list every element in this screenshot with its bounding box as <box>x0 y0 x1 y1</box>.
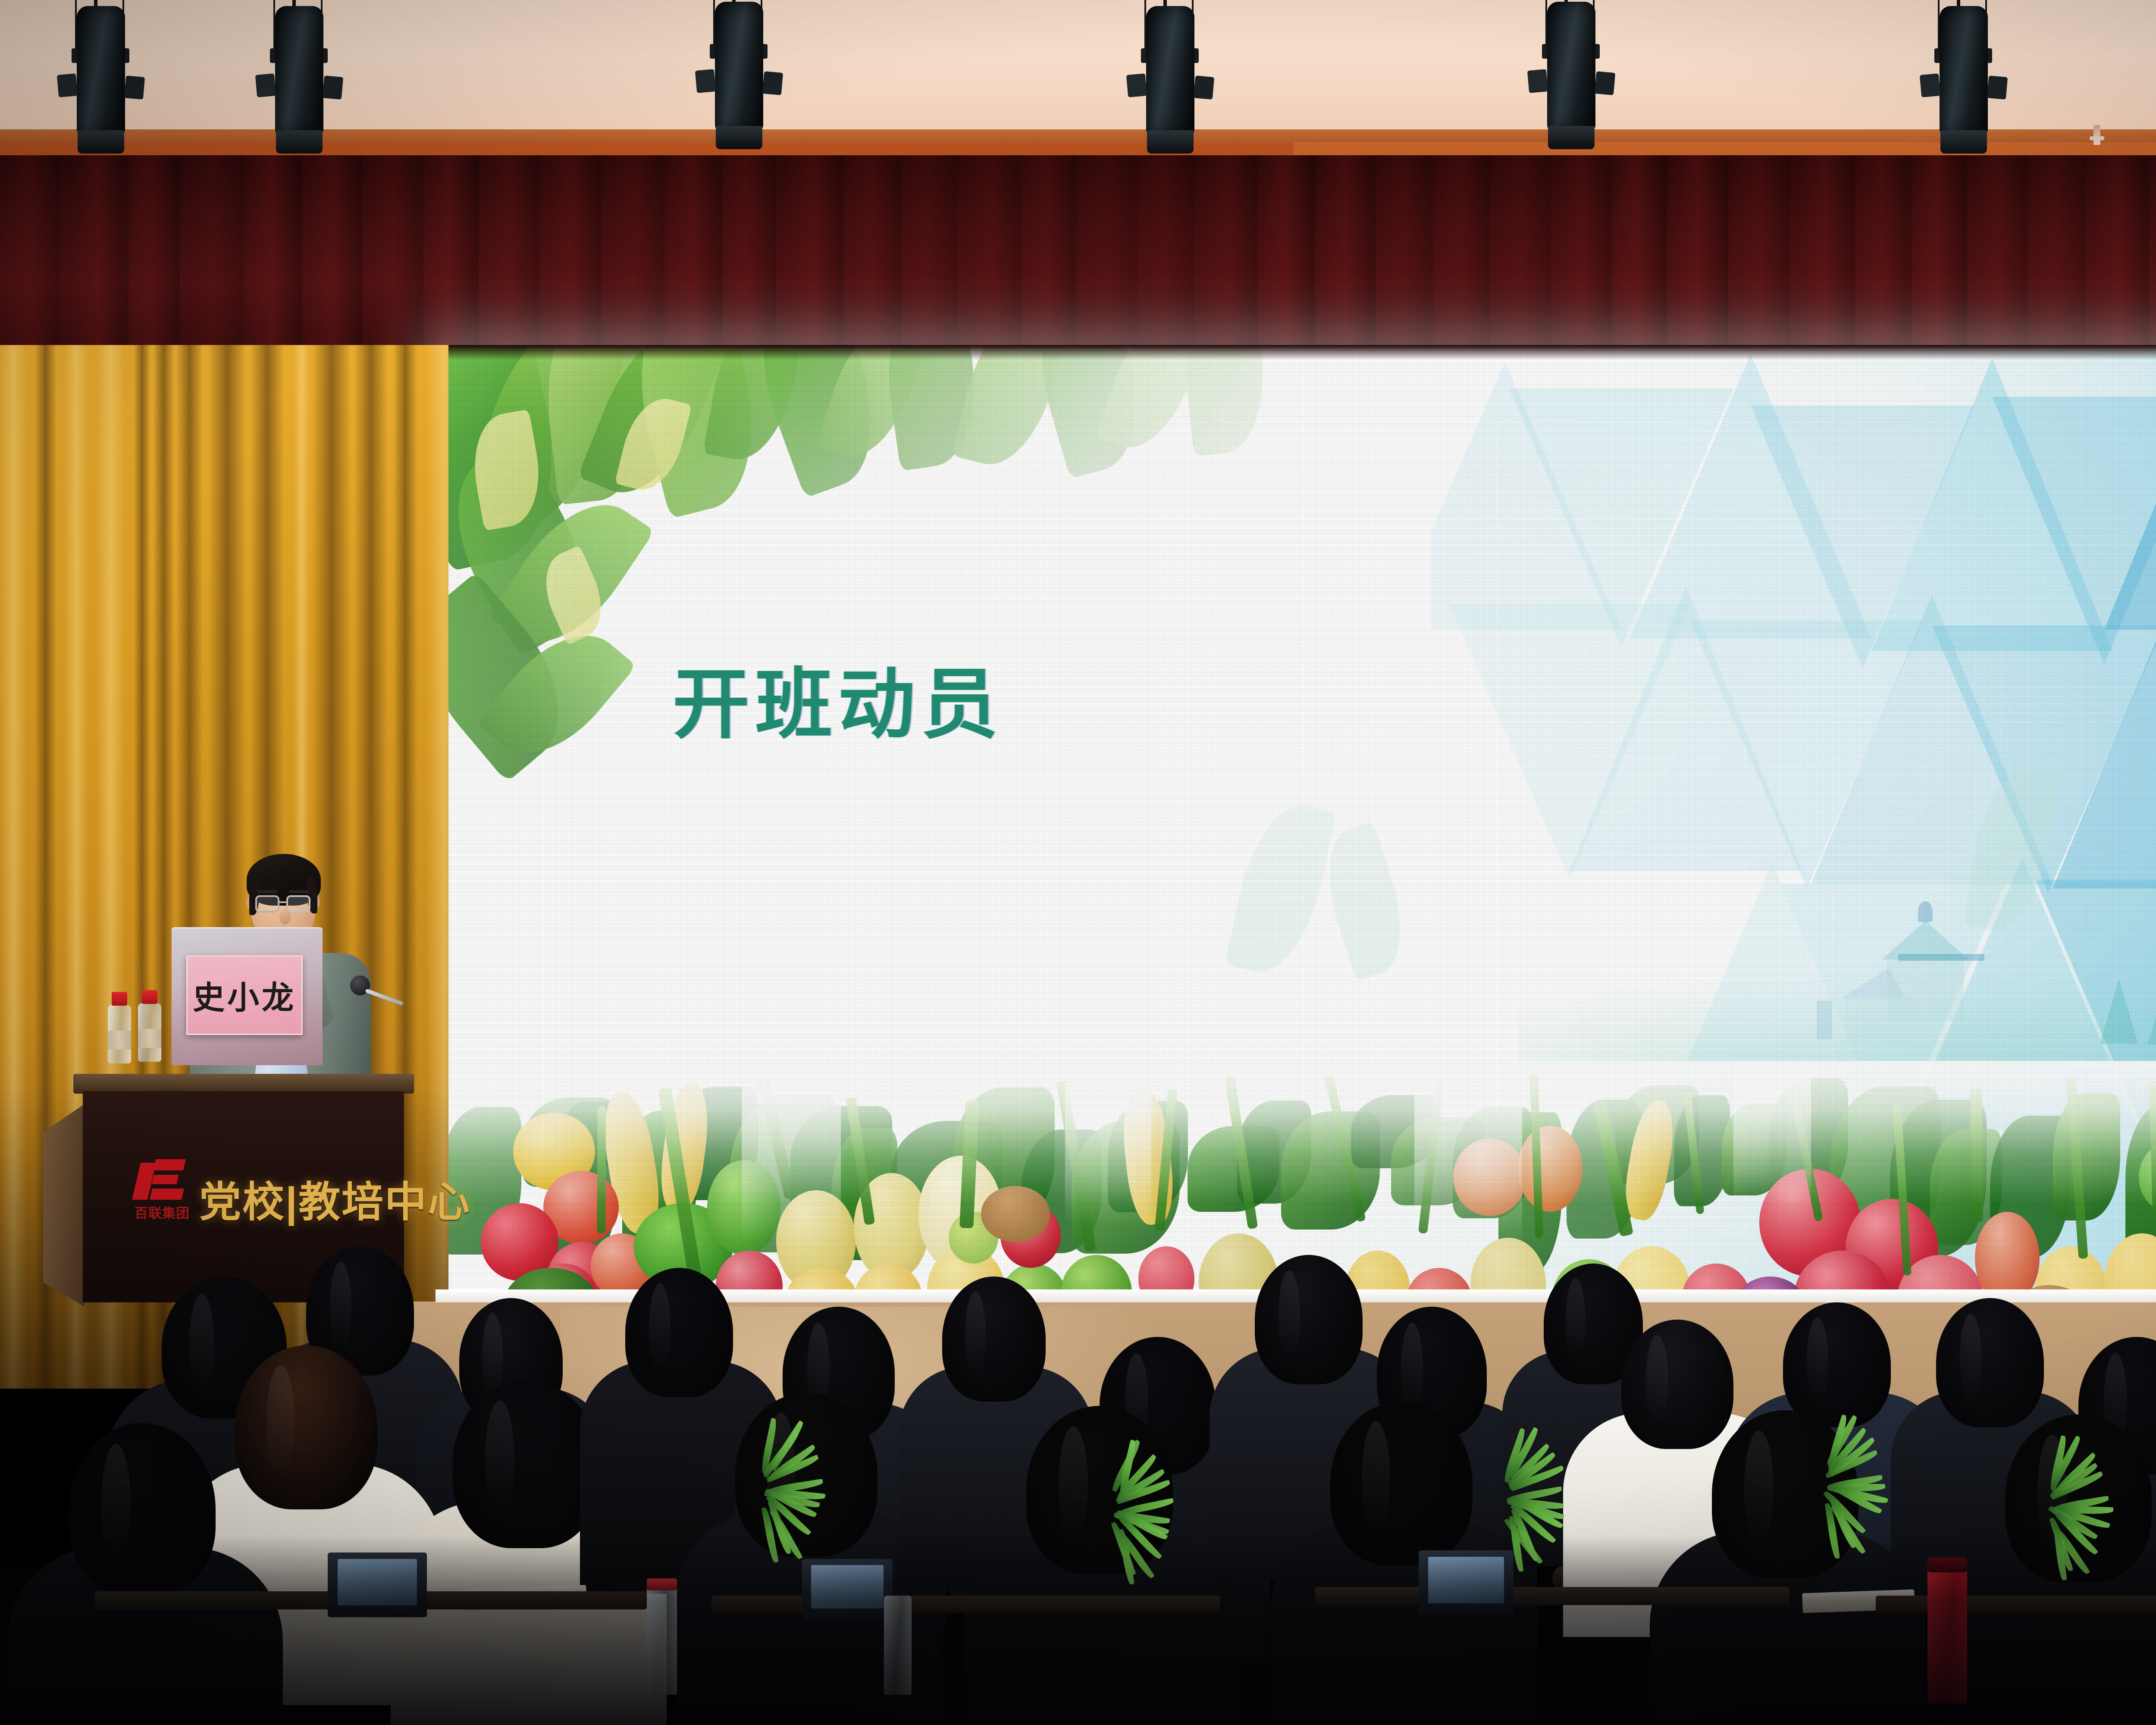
le-monogram-icon <box>135 1156 188 1203</box>
spotlight-lens <box>716 126 762 149</box>
screen-top-shadow <box>440 345 2156 360</box>
valance-fold <box>1316 155 1376 362</box>
speaker-eyebrow-right <box>289 890 309 893</box>
valance-fold <box>241 155 302 362</box>
farmhouse2-body <box>1845 996 1914 1043</box>
name-placard: 史小龙 <box>186 955 303 1035</box>
spotlight-barndoor-right <box>1595 71 1615 95</box>
bottle-label <box>108 1031 131 1050</box>
attendee-hair-sheen <box>1807 1317 1828 1405</box>
attendee-head <box>942 1276 1046 1402</box>
spotlight-barndoor-right <box>762 71 783 95</box>
spotlight-housing <box>1547 2 1595 131</box>
speaker-eyebrow-left <box>257 890 278 893</box>
bottle-cap <box>112 992 127 1006</box>
valance-fold <box>1429 155 1490 362</box>
name-placard-text: 史小龙 <box>193 972 296 1018</box>
valance-fold <box>418 155 479 362</box>
valance-fold <box>184 155 244 362</box>
produce-blowout <box>1733 1061 1811 1207</box>
valance-fold <box>1730 155 1790 362</box>
valance-fold <box>1077 155 1138 362</box>
valance-fold <box>1968 155 2028 362</box>
spotlight-barndoor-left <box>1126 73 1147 97</box>
valance-fold <box>479 155 539 362</box>
valance-fold <box>302 155 362 362</box>
logo-subtext: 百联集团 <box>135 1202 188 1222</box>
attendee-hair-sheen <box>1401 1323 1423 1415</box>
produce-blowout <box>1065 1061 1151 1225</box>
podium-sign-text: 党校|教培中心 <box>199 1168 471 1229</box>
company-logo: 百联集团 <box>135 1156 188 1220</box>
valance-fold <box>1795 155 1855 362</box>
produce-top-fade <box>440 1061 2156 1203</box>
slide-triangle <box>2104 345 2156 630</box>
slide-tree <box>2147 992 2156 1044</box>
spotlight-housing <box>715 2 763 131</box>
spotlight-barndoor-right <box>1987 75 2008 100</box>
attendee-hair-sheen <box>649 1283 671 1374</box>
produce-blowout <box>1414 1061 1522 1246</box>
sprinkler-head <box>2093 125 2100 145</box>
potted-palm <box>1440 1410 1595 1557</box>
spotlight-barndoor-right <box>124 75 145 100</box>
foreground-shadow <box>0 1535 2156 1725</box>
spotlight-barndoor-left <box>1527 69 1548 93</box>
potted-palm <box>699 1402 854 1548</box>
valance-fold <box>0 155 60 362</box>
farmhouse2-wing <box>1817 1000 1832 1039</box>
valance-fold <box>662 155 723 362</box>
valance-fold <box>2088 155 2149 362</box>
valance-fold <box>1907 155 1967 362</box>
attendee-hair-sheen <box>485 1400 514 1518</box>
spotlight-lens <box>1940 130 1987 154</box>
spotlight-lens <box>1147 130 1194 154</box>
attendee-hair-sheen <box>330 1262 351 1352</box>
attendee-hair-sheen <box>1362 1421 1390 1536</box>
spotlight-barndoor-left <box>1920 73 1940 97</box>
podium-side-panel <box>43 1104 85 1307</box>
slide-hills <box>1518 940 2156 1069</box>
spotlight-barndoor-left <box>255 73 276 97</box>
valance-fold <box>1852 155 1912 362</box>
ceiling <box>0 0 2156 142</box>
spotlight-barndoor-left <box>695 69 716 93</box>
spotlight-barndoor-right <box>1194 75 1214 100</box>
conference-hall-scene: 开班动员 史小龙 <box>0 0 2156 1725</box>
eyeglasses-lens-left <box>255 895 279 913</box>
valance-fold <box>1373 155 1433 362</box>
farmhouse2-roof <box>1841 968 1906 998</box>
valance-fold <box>1552 155 1612 362</box>
valance-fold <box>716 155 776 362</box>
valance-fold <box>119 155 180 362</box>
valance-fold <box>2152 155 2156 362</box>
spotlight-barndoor-right <box>323 75 343 100</box>
spotlight-housing <box>1940 6 1988 135</box>
water-bottle[interactable] <box>138 1003 161 1062</box>
spotlight-lens <box>276 130 323 154</box>
attendee-hair-sheen <box>1960 1314 1981 1404</box>
bottle-label <box>138 1029 161 1048</box>
valance-fold <box>961 155 1021 362</box>
eyeglasses-lens-right <box>286 895 310 913</box>
farmhouse-eave <box>1898 954 1984 961</box>
attendee-hair-sheen <box>965 1292 986 1379</box>
water-bottle[interactable] <box>108 1005 131 1063</box>
valance-fold <box>604 155 664 362</box>
valance-fold <box>541 155 601 362</box>
speaker-nose <box>279 909 291 925</box>
valance-fold <box>1134 155 1194 362</box>
slide-triangle <box>2053 599 2156 888</box>
valance-fold <box>1491 155 1551 362</box>
valance-fold <box>783 155 843 362</box>
spotlight-housing <box>275 6 323 135</box>
valance-fold <box>1197 155 1258 362</box>
led-presentation-screen[interactable] <box>440 345 2156 1302</box>
valance-fold <box>1607 155 1667 362</box>
produce-blowout <box>742 1061 841 1242</box>
attendee-head <box>625 1268 733 1397</box>
valance-fold <box>1255 155 1315 362</box>
valance-fold <box>2025 155 2085 362</box>
valance-fold <box>363 155 423 362</box>
attendee-hair-sheen <box>1279 1270 1300 1361</box>
bottle-cap <box>142 990 157 1004</box>
valance-fold <box>897 155 957 362</box>
spotlight-lens <box>78 130 124 154</box>
valance-fold <box>1668 155 1728 362</box>
eyeglasses-bridge <box>279 901 288 903</box>
slide-tree <box>2100 979 2138 1044</box>
farmhouse-bell-tower <box>1918 901 1933 922</box>
attendee-head <box>453 1380 599 1548</box>
spotlight-housing <box>1146 6 1194 135</box>
slide-title: 开班动员 <box>673 643 1004 753</box>
potted-palm <box>1759 1397 1915 1544</box>
valance-fold <box>841 155 901 362</box>
spotlight-lens <box>1548 126 1595 149</box>
spotlight-barndoor-left <box>57 73 78 97</box>
spotlight-housing <box>77 6 125 135</box>
valance-fold <box>1016 155 1076 362</box>
